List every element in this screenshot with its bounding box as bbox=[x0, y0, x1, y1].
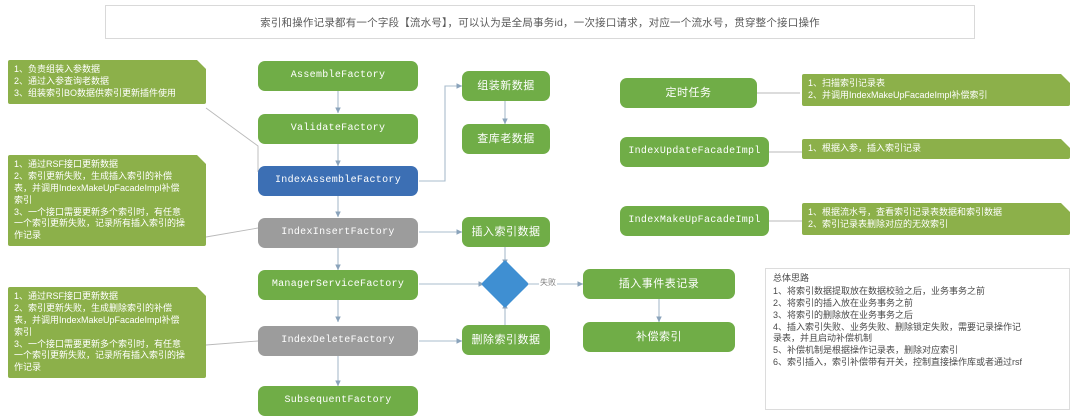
note-line: 2、索引更新失败，生成插入索引的补偿 bbox=[14, 171, 200, 183]
summary-line: 录表，并且启动补偿机制 bbox=[773, 333, 1062, 345]
note-index-update-facade: 1、根据入参，插入索引记录 bbox=[802, 139, 1070, 159]
node-delete-index-data[interactable]: 删除索引数据 bbox=[462, 325, 550, 355]
node-label: IndexInsertFactory bbox=[262, 227, 414, 239]
note-line: 3、一个接口需要更新多个索引时，有任意 bbox=[14, 339, 200, 351]
summary-line: 5、补偿机制是根据操作记录表，删除对应索引 bbox=[773, 345, 1062, 357]
note-index-makeup-facade: 1、根据流水号，查看索引记录表数据和索引数据 2、索引记录表删除对应的无效索引 bbox=[802, 203, 1070, 235]
summary-block: 总体思路 1、将索引数据提取放在数据校验之后，业务事务之前 2、将索引的插入放在… bbox=[765, 268, 1070, 410]
header-text: 索引和操作记录都有一个字段【流水号】，可以认为是全局事务id，一次接口请求，对应… bbox=[260, 15, 820, 30]
note-index-delete-factory: 1、通过RSF接口更新数据 2、索引更新失败，生成删除索引的补偿 表，并调用In… bbox=[8, 287, 206, 378]
node-index-makeup-facade-impl[interactable]: IndexMakeUpFacadeImpl bbox=[620, 206, 769, 236]
note-line: 索引 bbox=[14, 327, 200, 339]
node-assemble-new-data[interactable]: 组装新数据 bbox=[462, 71, 550, 101]
note-line: 表，并调用IndexMakeUpFacadeImpl补偿 bbox=[14, 183, 200, 195]
node-index-delete-factory[interactable]: IndexDeleteFactory bbox=[258, 326, 418, 356]
node-label: 删除索引数据 bbox=[466, 334, 546, 347]
note-line: 1、扫描索引记录表 bbox=[808, 78, 1064, 90]
note-line: 1、根据流水号，查看索引记录表数据和索引数据 bbox=[808, 207, 1064, 219]
node-label: 补偿索引 bbox=[587, 331, 731, 344]
diagram-canvas: 索引和操作记录都有一个字段【流水号】，可以认为是全局事务id，一次接口请求，对应… bbox=[0, 0, 1080, 418]
note-scheduled-task: 1、扫描索引记录表 2、并调用IndexMakeUpFacadeImpl补偿索引 bbox=[802, 74, 1070, 106]
edge-label-fail: 失败 bbox=[539, 277, 557, 288]
node-label: ValidateFactory bbox=[262, 123, 414, 135]
note-line: 作记录 bbox=[14, 230, 200, 242]
note-line: 1、通过RSF接口更新数据 bbox=[14, 291, 200, 303]
decision-diamond[interactable] bbox=[481, 260, 529, 308]
node-label: 定时任务 bbox=[624, 87, 753, 100]
note-index-insert-factory: 1、通过RSF接口更新数据 2、索引更新失败，生成插入索引的补偿 表，并调用In… bbox=[8, 155, 206, 246]
note-line: 1、根据入参，插入索引记录 bbox=[808, 143, 1064, 155]
node-label: IndexUpdateFacadeImpl bbox=[624, 146, 765, 158]
node-insert-index-data[interactable]: 插入索引数据 bbox=[462, 217, 550, 247]
note-line: 一个索引更新失败，记录所有插入索引的操 bbox=[14, 350, 200, 362]
header-banner: 索引和操作记录都有一个字段【流水号】，可以认为是全局事务id，一次接口请求，对应… bbox=[105, 5, 975, 39]
node-index-assemble-factory[interactable]: IndexAssembleFactory bbox=[258, 166, 418, 196]
node-index-insert-factory[interactable]: IndexInsertFactory bbox=[258, 218, 418, 248]
summary-line: 2、将索引的插入放在业务事务之前 bbox=[773, 298, 1062, 310]
node-query-old-data[interactable]: 查库老数据 bbox=[462, 124, 550, 154]
note-line: 1、负责组装入参数据 bbox=[14, 64, 200, 76]
node-label: ManagerServiceFactory bbox=[262, 279, 414, 291]
node-insert-event-record[interactable]: 插入事件表记录 bbox=[583, 269, 735, 299]
node-scheduled-task[interactable]: 定时任务 bbox=[620, 78, 757, 108]
summary-line: 3、将索引的删除放在业务事务之后 bbox=[773, 310, 1062, 322]
note-line: 3、一个接口需要更新多个索引时，有任意 bbox=[14, 207, 200, 219]
node-compensate-index[interactable]: 补偿索引 bbox=[583, 322, 735, 352]
note-line: 2、并调用IndexMakeUpFacadeImpl补偿索引 bbox=[808, 90, 1064, 102]
note-line: 2、索引记录表删除对应的无效索引 bbox=[808, 219, 1064, 231]
node-validate-factory[interactable]: ValidateFactory bbox=[258, 114, 418, 144]
summary-title: 总体思路 bbox=[773, 273, 1062, 285]
summary-line: 4、插入索引失败、业务失败、删除锁定失败，需要记录操作记 bbox=[773, 322, 1062, 334]
node-label: IndexDeleteFactory bbox=[262, 335, 414, 347]
node-label: 插入索引数据 bbox=[466, 226, 546, 239]
note-line: 作记录 bbox=[14, 362, 200, 374]
note-line: 2、通过入参查询老数据 bbox=[14, 76, 200, 88]
node-label: 插入事件表记录 bbox=[587, 278, 731, 291]
node-manager-service-factory[interactable]: ManagerServiceFactory bbox=[258, 270, 418, 300]
note-assemble-factory: 1、负责组装入参数据 2、通过入参查询老数据 3、组装索引BO数据供索引更新插件… bbox=[8, 60, 206, 104]
node-index-update-facade-impl[interactable]: IndexUpdateFacadeImpl bbox=[620, 137, 769, 167]
note-line: 一个索引更新失败，记录所有插入索引的操 bbox=[14, 218, 200, 230]
node-label: 查库老数据 bbox=[466, 133, 546, 146]
node-assemble-factory[interactable]: AssembleFactory bbox=[258, 61, 418, 91]
node-label: IndexAssembleFactory bbox=[262, 175, 414, 187]
node-label: 组装新数据 bbox=[466, 80, 546, 93]
node-label: AssembleFactory bbox=[262, 70, 414, 82]
note-line: 3、组装索引BO数据供索引更新插件使用 bbox=[14, 88, 200, 100]
note-line: 索引 bbox=[14, 195, 200, 207]
node-subsequent-factory[interactable]: SubsequentFactory bbox=[258, 386, 418, 416]
node-label: IndexMakeUpFacadeImpl bbox=[624, 215, 765, 227]
note-line: 1、通过RSF接口更新数据 bbox=[14, 159, 200, 171]
node-label: SubsequentFactory bbox=[262, 395, 414, 407]
summary-line: 6、索引插入，索引补偿带有开关，控制直接操作库或者通过rsf bbox=[773, 357, 1062, 369]
summary-line: 1、将索引数据提取放在数据校验之后，业务事务之前 bbox=[773, 286, 1062, 298]
note-line: 2、索引更新失败，生成删除索引的补偿 bbox=[14, 303, 200, 315]
note-line: 表，并调用IndexMakeUpFacadeImpl补偿 bbox=[14, 315, 200, 327]
